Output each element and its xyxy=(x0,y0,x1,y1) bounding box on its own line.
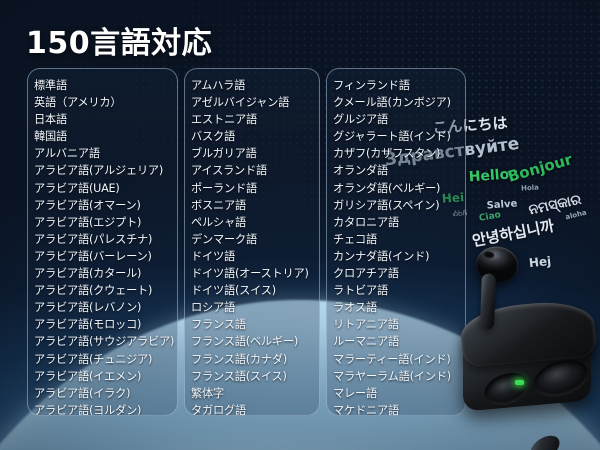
language-item: アルバニア語 xyxy=(34,145,177,162)
page-title: 150言語対応 xyxy=(26,18,212,62)
language-item: ロシア語 xyxy=(191,299,319,316)
language-item: デンマーク語 xyxy=(191,231,319,248)
language-item: フランス語(スイス) xyxy=(191,368,319,385)
language-item: 英語（アメリカ） xyxy=(34,94,177,111)
language-column-3: フィンランド語クメール語(カンボジア)グルジア語グジャラート語(インド)カザフ(… xyxy=(326,68,466,416)
earbuds-product-image xyxy=(455,248,600,418)
language-item: ドイツ語(オーストリア) xyxy=(191,265,319,282)
language-item: マレー語 xyxy=(333,385,465,402)
language-column-2: アムハラ語アゼルバイジャン語エストニア語バスク語ブルガリア語アイスランド語ポーラ… xyxy=(184,68,320,416)
language-item: アゼルバイジャン語 xyxy=(191,94,319,111)
language-item: 韓国語 xyxy=(34,128,177,145)
language-item: ガリシア語(スペイン) xyxy=(333,197,465,214)
language-item: アラビア語(チュニジア) xyxy=(34,351,177,368)
language-item: クメール語(カンボジア) xyxy=(333,94,465,111)
language-item: ボスニア語 xyxy=(191,197,319,214)
language-item: アイスランド語 xyxy=(191,162,319,179)
language-item: フランス語 xyxy=(191,316,319,333)
language-item: アムハラ語 xyxy=(191,77,319,94)
language-item: グジャラート語(インド) xyxy=(333,128,465,145)
language-item: リトアニア語 xyxy=(333,316,465,333)
language-item: 日本語 xyxy=(34,111,177,128)
language-item: アラビア語(カタール) xyxy=(34,265,177,282)
language-item: フィンランド語 xyxy=(333,77,465,94)
language-item: ポーランド語 xyxy=(191,180,319,197)
language-item: アラビア語(ヨルダン) xyxy=(34,402,177,416)
language-item: グルジア語 xyxy=(333,111,465,128)
language-item: アラビア語(サウジアラビア) xyxy=(34,333,177,350)
earbud-floating xyxy=(454,242,529,346)
language-item: 繁体字 xyxy=(191,385,319,402)
language-item: オランダ語(ベルギー) xyxy=(333,180,465,197)
language-item: ラオス語 xyxy=(333,299,465,316)
language-item: ドイツ語 xyxy=(191,248,319,265)
language-item: アラビア語(パレスチナ) xyxy=(34,231,177,248)
language-item: フランス語(ベルギー) xyxy=(191,333,319,350)
language-item: ペルシャ語 xyxy=(191,214,319,231)
promo-banner: こんにちはЗдравствуйтеHelloBonjourHolaHeiSalv… xyxy=(0,0,600,450)
language-item: カタロニア語 xyxy=(333,214,465,231)
language-item: アラビア語(バーレーン) xyxy=(34,248,177,265)
earbud-mesh-icon xyxy=(483,251,495,259)
language-item: ルーマニア語 xyxy=(333,333,465,350)
language-item: アラビア語(クウェート) xyxy=(34,282,177,299)
led-indicator xyxy=(515,380,524,385)
language-item: ラトビア語 xyxy=(333,282,465,299)
language-item: マラヤーラム語(インド) xyxy=(333,368,465,385)
language-item: アラビア語(UAE) xyxy=(34,180,177,197)
language-item: マケドニア語 xyxy=(333,402,465,416)
language-item: バスク語 xyxy=(191,128,319,145)
language-item: ブルガリア語 xyxy=(191,145,319,162)
language-item: アラビア語(レバノン) xyxy=(34,299,177,316)
language-item: カザフ(カザフスタン) xyxy=(333,145,465,162)
language-item: エストニア語 xyxy=(191,111,319,128)
earbud-stem xyxy=(480,273,496,329)
language-item: 標準語 xyxy=(34,77,177,94)
language-item: アラビア語(モロッコ) xyxy=(34,316,177,333)
language-item: タガログ語 xyxy=(191,402,319,416)
language-item: カンナダ語(インド) xyxy=(333,248,465,265)
language-item: クロアチア語 xyxy=(333,265,465,282)
language-item: アラビア語(イラク) xyxy=(34,385,177,402)
language-item: マラーティー語(インド) xyxy=(333,351,465,368)
language-item: オランダ語 xyxy=(333,162,465,179)
language-column-1: 標準語英語（アメリカ）日本語韓国語アルバニア語アラビア語(アルジェリア)アラビア… xyxy=(27,68,178,416)
language-item: アラビア語(イエメン) xyxy=(34,368,177,385)
language-item: アラビア語(オマーン) xyxy=(34,197,177,214)
language-item: ドイツ語(スイス) xyxy=(191,282,319,299)
language-item: フランス語(カナダ) xyxy=(191,351,319,368)
language-item: アラビア語(エジプト) xyxy=(34,214,177,231)
language-item: アラビア語(アルジェリア) xyxy=(34,162,177,179)
language-item: チェコ語 xyxy=(333,231,465,248)
